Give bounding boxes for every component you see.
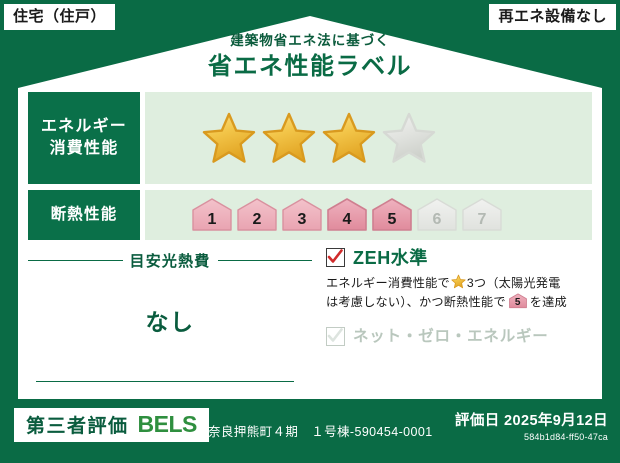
net-zero-energy-checkbox[interactable] [326, 327, 345, 346]
energy-label-line1: エネルギー [41, 116, 127, 138]
bels-jp-text: 第三者評価 [26, 417, 129, 436]
bels-logo-text: BELS [138, 413, 197, 436]
star-icon-filled-2 [261, 111, 317, 165]
bels-energy-label: 住宅（住戸） 再エネ設備なし 建築物省エネ法に基づく 省エネ性能ラベル エネルギ… [0, 0, 620, 463]
grade-badge-2: 2 [236, 197, 278, 233]
label-content-card: エネルギー 消費性能 [28, 92, 592, 390]
grade-number-5: 5 [371, 212, 413, 228]
zeh-desc-part1: エネルギー消費性能で [326, 276, 450, 290]
inline-grade-badge: 5 [508, 293, 528, 309]
rule-right [218, 260, 313, 261]
grade-badge-3: 3 [281, 197, 323, 233]
insulation-performance-label: 断熱性能 [28, 190, 140, 240]
building-name: 奈良押熊町４期 １号棟-590454-0001 [208, 421, 433, 440]
label-footer: 第三者評価 BELS 奈良押熊町４期 １号棟-590454-0001 評価日 2… [0, 400, 620, 463]
zeh-desc-part4: を達成 [530, 295, 567, 309]
checkmark-icon-faded [327, 328, 343, 344]
insulation-performance-row: 断熱性能 [28, 190, 592, 240]
insulation-label-text: 断熱性能 [51, 205, 118, 226]
grade-number-7: 7 [461, 212, 503, 228]
label-bottom-area: 目安光熱費 なし ZEH水準 エネルギー消費性能で3つ（太陽光発電 [28, 248, 592, 390]
renewable-equipment-tag: 再エネ設備なし [489, 4, 616, 30]
insulation-grade-scale: 1 2 3 [191, 197, 503, 233]
energy-label-line2: 消費性能 [50, 138, 119, 160]
grade-badge-6: 6 [416, 197, 458, 233]
insulation-performance-value: 1 2 3 [145, 190, 592, 240]
zeh-desc-part3: は考慮しない）、かつ断熱性能で [326, 295, 506, 309]
evaluation-info: 評価日 2025年9月12日 584b1d84-ff50-47ca [455, 414, 608, 442]
housing-type-tag: 住宅（住戸） [4, 4, 115, 30]
grade-badge-4: 4 [326, 197, 368, 233]
inline-star-icon [451, 274, 466, 289]
rule-left [28, 260, 123, 261]
net-zero-energy-row: ネット・ゼロ・エネルギー [326, 327, 592, 346]
energy-performance-row: エネルギー 消費性能 [28, 92, 592, 184]
grade-number-3: 3 [281, 212, 323, 228]
energy-performance-label: エネルギー 消費性能 [28, 92, 140, 184]
star-icon-filled-3 [321, 111, 377, 165]
net-zero-energy-title: ネット・ゼロ・エネルギー [353, 329, 549, 345]
grade-number-6: 6 [416, 212, 458, 228]
star-rating [201, 111, 437, 165]
energy-performance-value [145, 92, 592, 184]
evaluation-hash: 584b1d84-ff50-47ca [455, 433, 608, 442]
star-icon-filled-1 [201, 111, 257, 165]
grade-number-1: 1 [191, 212, 233, 228]
inline-grade-number: 5 [508, 298, 528, 308]
zeh-heading: ZEH水準 [326, 248, 592, 267]
zeh-description: エネルギー消費性能で3つ（太陽光発電 は考慮しない）、かつ断熱性能で5を達成 [326, 274, 592, 311]
zeh-title: ZEH水準 [353, 249, 428, 267]
grade-badge-5: 5 [371, 197, 413, 233]
grade-number-2: 2 [236, 212, 278, 228]
grade-number-4: 4 [326, 212, 368, 228]
grade-badge-7: 7 [461, 197, 503, 233]
utility-cost-heading: 目安光熱費 [28, 250, 312, 271]
zeh-checkbox[interactable] [326, 248, 345, 267]
evaluation-date: 評価日 2025年9月12日 [455, 414, 608, 430]
zeh-section: ZEH水準 エネルギー消費性能で3つ（太陽光発電 は考慮しない）、かつ断熱性能で… [312, 248, 592, 390]
bels-badge: 第三者評価 BELS [14, 408, 209, 442]
grade-badge-1: 1 [191, 197, 233, 233]
utility-cost-section: 目安光熱費 なし [28, 248, 312, 390]
zeh-desc-part2: 3つ（太陽光発電 [467, 276, 561, 290]
star-icon-empty-4 [381, 111, 437, 165]
utility-cost-title: 目安光熱費 [130, 250, 211, 271]
utility-cost-value: なし [28, 303, 312, 337]
checkmark-icon [327, 249, 343, 265]
utility-cost-bottom-rule [36, 381, 294, 382]
